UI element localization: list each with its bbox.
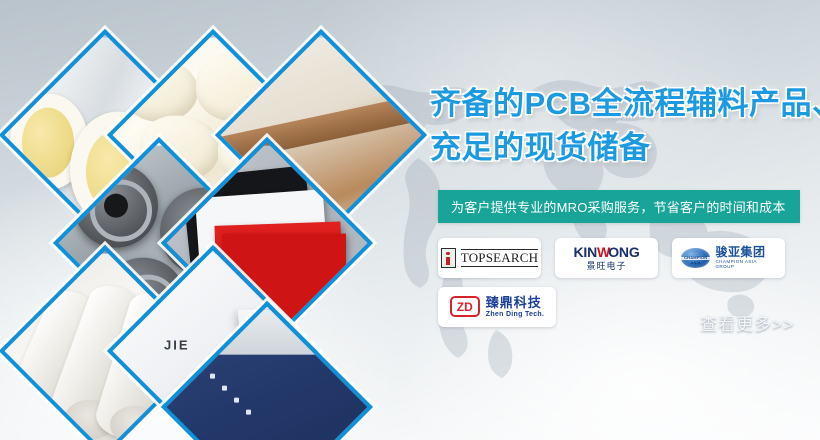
tile-caption-jie: JIE xyxy=(164,338,190,353)
topsearch-mark-icon xyxy=(441,248,456,268)
view-more-link[interactable]: 查看更多>> xyxy=(700,310,794,335)
champion-english-name: CHAMPION ASIA GROUP xyxy=(715,260,776,270)
topsearch-wordmark: TOPSEARCH xyxy=(461,249,538,267)
partner-logo-row-1: TOPSEARCH KINWONG 景旺电子 CHAMPION ASIA 骏亚集… xyxy=(438,238,818,278)
partner-logo-champion-asia[interactable]: CHAMPION ASIA 骏亚集团 CHAMPION ASIA GROUP xyxy=(672,238,785,278)
product-image-mosaic: JIE xyxy=(0,20,410,440)
kinwong-chinese-name: 景旺电子 xyxy=(573,262,639,271)
headline-line-1: 齐备的PCB全流程辅料产品、 xyxy=(430,82,820,126)
kinwong-wordmark: KINWONG xyxy=(573,245,639,260)
zhen-ding-english-name: Zhen Ding Tech. xyxy=(486,311,544,318)
page-title: 齐备的PCB全流程辅料产品、 充足的现货储备 xyxy=(430,82,820,170)
champion-chinese-name: 骏亚集团 xyxy=(715,246,776,259)
zhen-ding-chinese-name: 臻鼎科技 xyxy=(486,296,544,310)
headline-line-2: 充足的现货储备 xyxy=(430,126,820,170)
globe-label: CHAMPION ASIA xyxy=(681,255,710,265)
zhen-ding-mark-icon: ZD xyxy=(450,296,480,317)
partner-logo-kinwong[interactable]: KINWONG 景旺电子 xyxy=(555,238,658,278)
kinwong-en-left: KIN xyxy=(573,244,597,260)
kinwong-en-mid: W xyxy=(597,244,608,260)
subtitle-bar: 为客户提供专业的MRO采购服务，节省客户的时间和成本 xyxy=(438,190,800,223)
partner-logo-topsearch[interactable]: TOPSEARCH xyxy=(438,238,541,278)
subtitle-text: 为客户提供专业的MRO采购服务，节省客户的时间和成本 xyxy=(438,197,786,216)
partner-logo-zhen-ding[interactable]: ZD 臻鼎科技 Zhen Ding Tech. xyxy=(438,287,556,327)
globe-icon: CHAMPION ASIA xyxy=(681,248,710,268)
kinwong-en-right: ONG xyxy=(608,244,639,260)
hero-banner: JIE 齐备的PCB全流程辅料产品、 充足的现货储备 为客户提供专业的MRO采购… xyxy=(0,0,820,440)
banner-content: 齐备的PCB全流程辅料产品、 充足的现货储备 为客户提供专业的MRO采购服务，节… xyxy=(430,0,820,440)
